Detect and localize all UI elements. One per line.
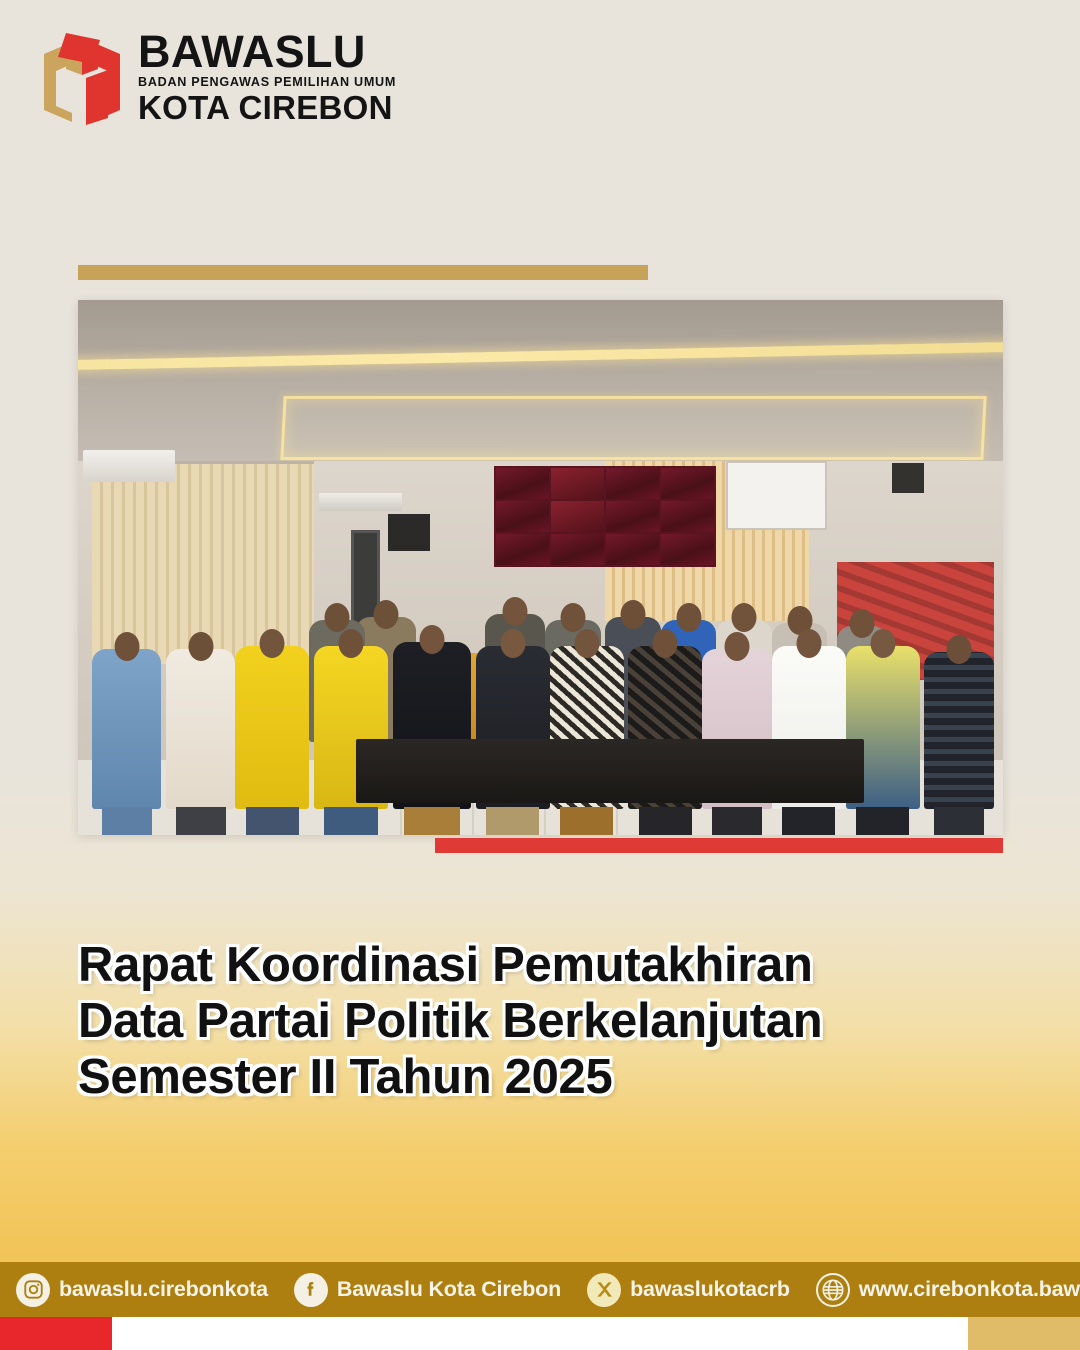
logo-brand-name: BAWASLU bbox=[138, 31, 396, 74]
bawaslu-logo: BAWASLU BADAN PENGAWAS PEMILIHAN UMUM KO… bbox=[36, 30, 396, 125]
cove-light-inner bbox=[280, 396, 986, 460]
social-item-website[interactable]: www.cirebonkota.bawaslu.go.id bbox=[816, 1273, 1080, 1307]
instagram-icon[interactable] bbox=[16, 1273, 50, 1307]
social-item-x[interactable]: bawaslukotacrb bbox=[587, 1273, 790, 1307]
headline-line-3: Semester II Tahun 2025 bbox=[78, 1050, 998, 1106]
headline-line-2: Data Partai Politik Berkelanjutan bbox=[78, 994, 998, 1050]
poster-canvas: BAWASLU BADAN PENGAWAS PEMILIHAN UMUM KO… bbox=[0, 0, 1080, 1350]
logo-region: KOTA CIREBON bbox=[138, 91, 396, 124]
logo-tagline: BADAN PENGAWAS PEMILIHAN UMUM bbox=[138, 76, 396, 89]
ballot-box-icon bbox=[36, 30, 128, 125]
globe-icon[interactable] bbox=[816, 1273, 850, 1307]
event-photo bbox=[78, 300, 1003, 835]
wall-speaker-right bbox=[892, 463, 924, 492]
bottom-strip-red-block bbox=[0, 1317, 112, 1350]
headline-line-1: Rapat Koordinasi Pemutakhiran bbox=[78, 938, 998, 994]
gold-accent-bar bbox=[78, 265, 648, 280]
air-conditioner-secondary bbox=[319, 493, 402, 512]
facebook-page-name[interactable]: Bawaslu Kota Cirebon bbox=[337, 1277, 561, 1302]
air-conditioner bbox=[83, 450, 176, 482]
bottom-strip bbox=[0, 1317, 1080, 1350]
facebook-icon[interactable] bbox=[294, 1273, 328, 1307]
website-url[interactable]: www.cirebonkota.bawaslu.go.id bbox=[859, 1277, 1080, 1302]
page-title: Rapat Koordinasi Pemutakhiran Data Parta… bbox=[78, 938, 998, 1106]
photo-scene bbox=[78, 300, 1003, 835]
x-handle[interactable]: bawaslukotacrb bbox=[630, 1277, 790, 1302]
instagram-handle[interactable]: bawaslu.cirebonkota bbox=[59, 1277, 268, 1302]
social-footer-bar: bawaslu.cirebonkota Bawaslu Kota Cirebon… bbox=[0, 1262, 1080, 1317]
conference-table bbox=[356, 739, 865, 803]
social-item-facebook[interactable]: Bawaslu Kota Cirebon bbox=[294, 1273, 561, 1307]
bottom-strip-gold-block bbox=[968, 1317, 1080, 1350]
social-item-instagram[interactable]: bawaslu.cirebonkota bbox=[16, 1273, 268, 1307]
red-accent-bar bbox=[435, 838, 1003, 853]
x-twitter-icon[interactable] bbox=[587, 1273, 621, 1307]
